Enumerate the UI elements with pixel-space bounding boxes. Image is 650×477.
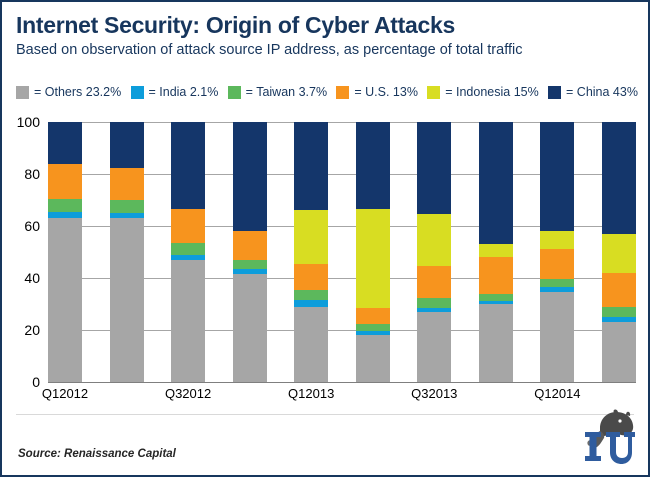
legend-swatch-icon xyxy=(336,86,349,99)
legend-swatch-icon xyxy=(228,86,241,99)
bar-segment-us xyxy=(48,164,82,199)
legend-label: = India 2.1% xyxy=(149,86,219,99)
legend-label: = Taiwan 3.7% xyxy=(246,86,327,99)
legend-swatch-icon xyxy=(427,86,440,99)
bar-segment-indonesia xyxy=(602,234,636,273)
bar-segment-us xyxy=(356,308,390,324)
bar-Q42013[interactable] xyxy=(479,122,513,382)
bar-segment-us xyxy=(171,209,205,243)
legend-label: = U.S. 13% xyxy=(354,86,418,99)
bar-segment-others xyxy=(540,292,574,382)
bar-segment-taiwan xyxy=(417,298,451,308)
bar-Q12013[interactable] xyxy=(294,122,328,382)
bar-segment-us xyxy=(479,257,513,293)
bar-segment-taiwan xyxy=(233,260,267,269)
legend-label: = China 43% xyxy=(566,86,638,99)
bar-Q22013[interactable] xyxy=(356,122,390,382)
legend-label: = Others 23.2% xyxy=(34,86,121,99)
y-axis-tick-label: 20 xyxy=(24,322,40,338)
bar-segment-taiwan xyxy=(602,307,636,317)
bar-segment-indonesia xyxy=(417,214,451,266)
bar-segment-taiwan xyxy=(294,290,328,300)
bar-segment-us xyxy=(540,249,574,279)
bar-segment-china xyxy=(171,122,205,209)
legend-item-china[interactable]: = China 43% xyxy=(548,86,638,99)
bar-Q22014[interactable] xyxy=(602,122,636,382)
y-axis-tick-label: 0 xyxy=(32,374,40,390)
bar-segment-others xyxy=(417,312,451,382)
y-axis-tick-label: 60 xyxy=(24,218,40,234)
x-axis-tick-label: Q32012 xyxy=(165,386,211,401)
legend-label: = Indonesia 15% xyxy=(445,86,538,99)
legend-item-indonesia[interactable]: = Indonesia 15% xyxy=(427,86,538,99)
bar-segment-others xyxy=(602,322,636,382)
bar-Q32013[interactable] xyxy=(417,122,451,382)
bar-Q22012[interactable] xyxy=(110,122,144,382)
bar-segment-others xyxy=(479,304,513,382)
bar-segment-taiwan xyxy=(48,199,82,212)
legend-item-taiwan[interactable]: = Taiwan 3.7% xyxy=(228,86,327,99)
gridline-0: 0 xyxy=(48,382,636,383)
bar-segment-us xyxy=(602,273,636,308)
x-axis-tick-label: Q12012 xyxy=(42,386,88,401)
legend-swatch-icon xyxy=(548,86,561,99)
x-axis-tick-label: Q32013 xyxy=(411,386,457,401)
bar-segment-others xyxy=(233,274,267,382)
bar-segment-indonesia xyxy=(294,210,328,263)
bar-Q12012[interactable] xyxy=(48,122,82,382)
plot-area: 020406080100 xyxy=(48,122,636,382)
bar-segment-china xyxy=(417,122,451,214)
y-axis-tick-label: 100 xyxy=(17,114,40,130)
footer-divider xyxy=(16,414,634,415)
legend-swatch-icon xyxy=(16,86,29,99)
bar-segment-china xyxy=(356,122,390,209)
legend-item-us[interactable]: = U.S. 13% xyxy=(336,86,418,99)
bar-segment-china xyxy=(540,122,574,231)
bar-segment-us xyxy=(110,168,144,201)
legend-item-india[interactable]: = India 2.1% xyxy=(131,86,219,99)
bar-segment-taiwan xyxy=(540,279,574,287)
chart-header: Internet Security: Origin of Cyber Attac… xyxy=(2,2,648,60)
x-axis-tick-label: Q12013 xyxy=(288,386,334,401)
x-axis-tick-label: Q12014 xyxy=(534,386,580,401)
bar-Q42012[interactable] xyxy=(233,122,267,382)
y-axis-tick-label: 80 xyxy=(24,166,40,182)
bar-segment-others xyxy=(171,260,205,382)
legend-swatch-icon xyxy=(131,86,144,99)
source-note: Source: Renaissance Capital xyxy=(18,448,176,460)
legend-item-others[interactable]: = Others 23.2% xyxy=(16,86,121,99)
bar-segment-us xyxy=(294,264,328,290)
chart-figure: Internet Security: Origin of Cyber Attac… xyxy=(0,0,650,477)
bar-segment-us xyxy=(233,231,267,260)
bar-segment-taiwan xyxy=(479,294,513,302)
y-axis-tick-label: 40 xyxy=(24,270,40,286)
bar-segment-china xyxy=(110,122,144,168)
iu-letters xyxy=(585,432,635,464)
bar-segment-others xyxy=(48,218,82,382)
bar-segment-taiwan xyxy=(171,243,205,255)
bar-segment-taiwan xyxy=(110,200,144,213)
bar-segment-china xyxy=(233,122,267,231)
bar-segment-others xyxy=(294,307,328,382)
iu-bear-logo xyxy=(580,406,638,468)
bar-segment-indonesia xyxy=(540,231,574,249)
bar-segment-china xyxy=(48,122,82,164)
bar-segment-indonesia xyxy=(479,244,513,257)
bar-segment-china xyxy=(479,122,513,244)
bar-segment-china xyxy=(602,122,636,234)
bar-Q32012[interactable] xyxy=(171,122,205,382)
bar-segment-us xyxy=(417,266,451,297)
bar-group xyxy=(48,122,636,382)
bar-segment-taiwan xyxy=(356,324,390,332)
bar-Q12014[interactable] xyxy=(540,122,574,382)
chart-legend: = Others 23.2%= India 2.1%= Taiwan 3.7%=… xyxy=(16,86,638,99)
bar-segment-others xyxy=(110,218,144,382)
chart-subtitle: Based on observation of attack source IP… xyxy=(16,40,648,60)
bar-segment-china xyxy=(294,122,328,210)
page-title: Internet Security: Origin of Cyber Attac… xyxy=(16,12,648,39)
bar-segment-others xyxy=(356,335,390,382)
bar-segment-indonesia xyxy=(356,209,390,308)
